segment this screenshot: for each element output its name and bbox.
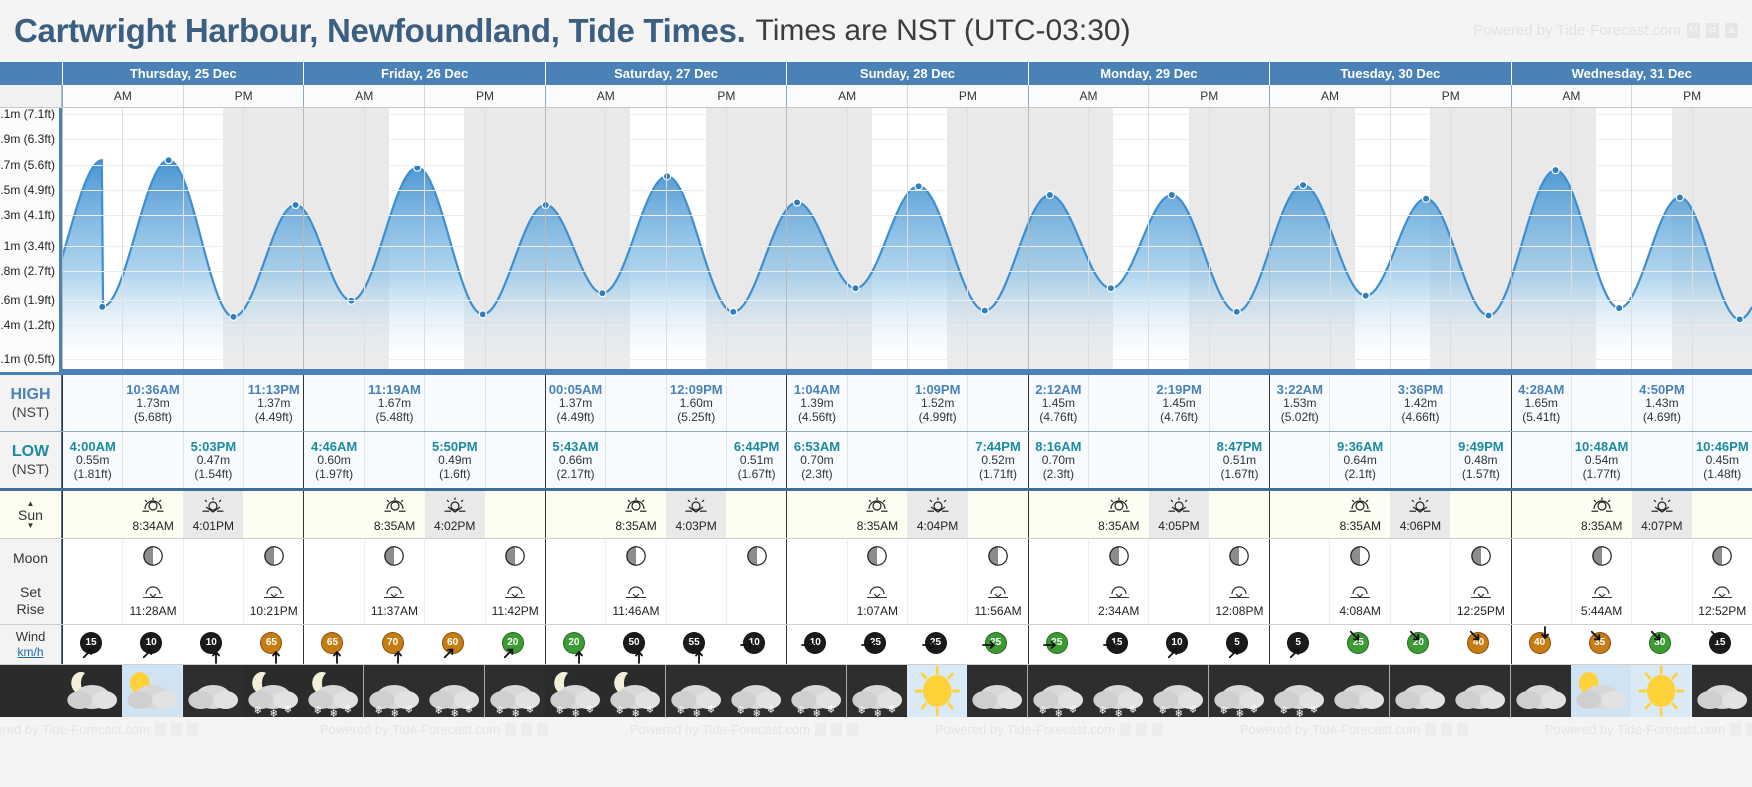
tide-time: 11:19AM: [368, 382, 421, 397]
footer-logo-mark: [187, 723, 198, 736]
wind-badge: 25: [925, 632, 951, 658]
tide-extreme-low-22: [1485, 312, 1492, 319]
weather-icon-snow: ❄❄❄: [485, 665, 545, 717]
sunrise-time: 8:35AM: [1340, 519, 1381, 533]
footer-watermark-1: Powered by Tide-Forecast.com: [320, 722, 548, 737]
svg-text:❄: ❄: [1189, 703, 1197, 716]
moon-setrise-cell: [1390, 577, 1450, 624]
v-gridline-120: [1269, 108, 1270, 369]
tide-cell: [1270, 432, 1329, 488]
tide-cell: [1209, 375, 1269, 431]
tide-height-m: 0.64m: [1343, 454, 1376, 468]
v-gridline-24: [303, 108, 304, 369]
wind-direction-arrow-icon: [572, 650, 586, 667]
low-tide-label-text: LOW: [12, 443, 49, 461]
wind-badge: 50: [623, 632, 649, 658]
wind-cell: 35: [1572, 625, 1632, 664]
v-gridline-30: [364, 108, 365, 369]
wind-direction-arrow-icon: [1288, 646, 1302, 663]
wind-unit-link[interactable]: km/h: [17, 645, 43, 660]
sunset-time: 4:03PM: [675, 519, 716, 533]
tide-height-ft: (5.25ft): [677, 411, 715, 425]
low-tide-label: LOW (NST): [0, 432, 62, 488]
moonrise-time: 4:08AM: [1339, 604, 1380, 618]
tide-cell: [1088, 375, 1148, 431]
tide-time: 1:04AM: [794, 382, 840, 397]
footer-logo-mark: [521, 723, 532, 736]
sun-cell: [1692, 491, 1752, 538]
tide-height-ft: (5.68ft): [134, 411, 172, 425]
wind-direction-arrow-icon: [81, 646, 95, 663]
tide-height-m: 1.45m: [1162, 397, 1195, 411]
wind-badge: 20: [502, 632, 528, 658]
tide-height-ft: (1.67ft): [738, 468, 776, 482]
moonrise-icon: [1106, 583, 1132, 604]
moon-setrise-cell: 2:34AM: [1088, 577, 1148, 624]
moonset-time: 12:52PM: [1698, 604, 1746, 618]
weather-icon-cloudy: [183, 665, 243, 717]
tide-height-m: 0.54m: [1585, 454, 1618, 468]
svg-text:❄: ❄: [405, 703, 413, 716]
sun-cell: 4:02PM: [425, 491, 485, 538]
sun-cell: [63, 491, 123, 538]
tide-height-m: 1.60m: [680, 397, 713, 411]
svg-text:❄: ❄: [1038, 704, 1046, 717]
moon-cell: [304, 539, 363, 577]
footer-logo-mark: [1425, 723, 1436, 736]
moonrise-time: 1:07AM: [857, 604, 898, 618]
tide-height-ft: (1.71ft): [979, 468, 1017, 482]
moon-setrise-cell: [304, 577, 363, 624]
tide-extreme-high-25: [1676, 194, 1683, 201]
tide-height-ft: (4.66ft): [1402, 411, 1440, 425]
tide-height-ft: (2.17ft): [557, 468, 595, 482]
weather-icon-snow: ❄❄❄: [1028, 665, 1088, 717]
sun-cell: 8:35AM: [365, 491, 425, 538]
tide-time: 12:09PM: [670, 382, 723, 397]
wind-badge: 25: [1046, 632, 1072, 658]
moon-cell: [847, 539, 907, 577]
tide-cell: 2:12AM1.45m(4.76ft): [1029, 375, 1088, 431]
sunset-time: 4:06PM: [1400, 519, 1441, 533]
moonrise-time: 2:34AM: [1098, 604, 1139, 618]
wind-badge: 15: [1106, 632, 1132, 658]
moon-cell: [546, 539, 605, 577]
v-gridline-96: [1028, 108, 1029, 369]
sunset-arrow-icon: [27, 522, 35, 530]
tide-time: 4:00AM: [70, 439, 116, 454]
footer-logo-mark: [155, 723, 166, 736]
wind-direction-arrow-icon: [982, 638, 996, 655]
tide-time: 4:46AM: [311, 439, 357, 454]
moon-cell: [1148, 539, 1208, 577]
sun-cell: 8:34AM: [123, 491, 183, 538]
tide-height-ft: (4.49ft): [557, 411, 595, 425]
wind-cell: 60: [425, 625, 485, 664]
footer-watermark-text: Powered by Tide-Forecast.com: [935, 722, 1115, 737]
tide-cell: [1390, 432, 1450, 488]
tide-extreme-low-0: [99, 303, 106, 310]
weather-icon-snow: ❄❄❄: [726, 665, 786, 717]
wind-row: Wind km/h 151010656570602020505510102525…: [0, 625, 1752, 665]
tide-height-ft: (4.99ft): [919, 411, 957, 425]
moon-setrise-cell: [726, 577, 786, 624]
low-tide-day-0: 4:00AM0.55m(1.81ft)5:03PM0.47m(1.54ft): [62, 432, 303, 488]
moonset-icon: [140, 583, 166, 604]
tide-time: 7:44PM: [975, 439, 1021, 454]
tide-height-ft: (5.02ft): [1281, 411, 1319, 425]
high-tide-day-4: 2:12AM1.45m(4.76ft)2:19PM1.45m(4.76ft): [1028, 375, 1269, 431]
day-header-corner: [0, 62, 62, 85]
sunset-icon: [1408, 497, 1432, 518]
svg-text:❄: ❄: [1175, 707, 1183, 717]
wind-label-text: Wind: [16, 629, 46, 645]
wind-cell: 15: [1089, 625, 1149, 664]
tide-cell: 9:49PM0.48m(1.57ft): [1450, 432, 1510, 488]
tide-time: 11:13PM: [248, 382, 300, 397]
sunset-time: 4:07PM: [1641, 519, 1682, 533]
svg-text:❄: ❄: [632, 707, 640, 717]
tide-time: 5:03PM: [191, 439, 237, 454]
tide-time: 10:48AM: [1575, 439, 1628, 454]
v-gridline-6: [122, 108, 123, 369]
moon-phase-icon: [1711, 545, 1733, 572]
tide-height-m: 1.37m: [257, 397, 290, 411]
wind-badge: 25: [1347, 632, 1373, 658]
wind-day-0: 15101065: [62, 625, 303, 664]
tide-cell: [1571, 375, 1631, 431]
footer-watermark-text: Powered by Tide-Forecast.com: [320, 722, 500, 737]
sun-cell: 4:01PM: [183, 491, 243, 538]
weather-icon-snow: ❄❄❄: [364, 665, 424, 717]
tide-cell: 1:04AM1.39m(4.56ft): [787, 375, 846, 431]
wind-direction-arrow-icon: [1538, 626, 1552, 643]
footer-watermark-text: Powered by Tide-Forecast.com: [1545, 722, 1725, 737]
tide-cell: 10:48AM0.54m(1.77ft): [1571, 432, 1631, 488]
footer-logo-mark: [1152, 723, 1163, 736]
moonset-time: 11:46AM: [612, 604, 659, 618]
wind-cell: 50: [606, 625, 666, 664]
sun-cell: [243, 491, 303, 538]
footer-watermark-3: Powered by Tide-Forecast.com: [935, 722, 1163, 737]
footer-logo-mark: [1120, 723, 1131, 736]
moon-setrise-cell: 10:21PM: [243, 577, 303, 624]
low-tide-day-5: 9:36AM0.64m(2.1ft)9:49PM0.48m(1.57ft): [1269, 432, 1510, 488]
tide-cell: 4:00AM0.55m(1.81ft): [63, 432, 122, 488]
moon-setrise-label: Set Rise: [0, 577, 62, 624]
svg-text:❄: ❄: [314, 704, 322, 717]
moon-setrise-cell: [666, 577, 726, 624]
moon-phase-icon: [1349, 545, 1371, 572]
moon-phase-icon: [142, 545, 164, 572]
tide-height-m: 1.65m: [1525, 397, 1558, 411]
moon-cell: [1450, 539, 1510, 577]
svg-text:❄: ❄: [270, 707, 278, 717]
svg-text:❄: ❄: [495, 704, 503, 717]
tide-height-ft: (1.81ft): [74, 468, 112, 482]
v-gridline-72: [786, 108, 787, 369]
tide-cell: [1329, 375, 1389, 431]
moon-phase-icon: [746, 545, 768, 572]
footer-watermark-text: Powered by Tide-Forecast.com: [1240, 722, 1420, 737]
high-tide-row: HIGH (NST) 10:36AM1.73m(5.68ft)11:13PM1.…: [0, 372, 1752, 432]
moon-setrise-cell: [1631, 577, 1691, 624]
svg-text:❄: ❄: [465, 703, 473, 716]
sun-cell: 8:35AM: [606, 491, 666, 538]
sun-label-text: Sun: [18, 508, 43, 522]
weather-icon-snow-night: ❄❄❄: [243, 665, 303, 717]
svg-text:❄: ❄: [525, 703, 533, 716]
tide-cell: [63, 375, 122, 431]
footer-watermark-4: Powered by Tide-Forecast.com: [1240, 722, 1468, 737]
svg-text:❄: ❄: [1235, 707, 1243, 717]
footer-logo-mark: [847, 723, 858, 736]
ampm-group-0: AMPM: [62, 85, 303, 107]
tide-cell: [605, 375, 665, 431]
wind-badge: 65: [260, 632, 286, 658]
weather-icon-snow-night: ❄❄❄: [303, 665, 363, 717]
sun-day-5: 8:35AM4:06PM: [1269, 491, 1510, 538]
moon-day-5: [1269, 539, 1510, 577]
wind-cell: 25: [968, 625, 1028, 664]
wind-day-3: 10252525: [786, 625, 1027, 664]
sunset-icon: [1167, 497, 1191, 518]
sun-cell: [1029, 491, 1089, 538]
svg-text:❄: ❄: [330, 707, 338, 717]
sunrise-time: 8:35AM: [1581, 519, 1622, 533]
moon-day-3: [786, 539, 1027, 577]
tide-height-ft: (1.67ft): [1220, 468, 1258, 482]
tide-cell: 4:46AM0.60m(1.97ft): [304, 432, 363, 488]
v-gridline-108: [1148, 108, 1149, 369]
v-gridline-126: [1330, 108, 1331, 369]
day-header-row: Thursday, 25 DecFriday, 26 DecSaturday, …: [0, 62, 1752, 85]
wind-direction-arrow-icon: [1166, 646, 1180, 663]
footer-logo-mark: [537, 723, 548, 736]
wind-cell: 65: [304, 625, 364, 664]
svg-text:❄: ❄: [390, 707, 398, 717]
high-tide-day-0: 10:36AM1.73m(5.68ft)11:13PM1.37m(4.49ft): [62, 375, 303, 431]
moonset-icon: [381, 583, 407, 604]
moon-setrise-cell: [1512, 577, 1571, 624]
weather-day-1: ❄❄❄❄❄❄❄❄❄❄❄❄: [303, 665, 544, 717]
moonset-icon: [623, 583, 649, 604]
svg-text:❄: ❄: [1099, 704, 1107, 717]
wind-cell: 5: [1209, 625, 1269, 664]
sunset-icon: [1650, 497, 1674, 518]
wind-cell: 15: [1692, 625, 1752, 664]
day-header-5: Tuesday, 30 Dec: [1269, 62, 1510, 85]
sun-row: Sun 8:34AM4:01PM8:35AM4:02PM8:35AM4:03PM…: [0, 491, 1752, 539]
svg-text:❄: ❄: [511, 707, 519, 717]
tide-time: 10:46PM: [1696, 439, 1749, 454]
wind-direction-arrow-icon: [1043, 638, 1057, 655]
footer-logo-mark: [831, 723, 842, 736]
footer-watermark-5: Powered by Tide-Forecast.com: [1545, 722, 1752, 737]
svg-text:❄: ❄: [435, 704, 443, 717]
day-header-1: Friday, 26 Dec: [303, 62, 544, 85]
moon-cell: [605, 539, 665, 577]
tide-height-m: 1.52m: [921, 397, 954, 411]
wind-cell: 25: [907, 625, 967, 664]
day-header-4: Monday, 29 Dec: [1028, 62, 1269, 85]
tide-height-m: 1.37m: [559, 397, 592, 411]
tide-cell: [847, 432, 907, 488]
ampm-am-5: AM: [1270, 85, 1390, 107]
v-gridline-0: [62, 108, 63, 369]
moon-setrise-cell: [1148, 577, 1208, 624]
tide-height-ft: (2.1ft): [1344, 468, 1375, 482]
moon-setrise-cell: [787, 577, 846, 624]
sun-day-0: 8:34AM4:01PM: [62, 491, 303, 538]
moon-setrise-cell: 5:44AM: [1571, 577, 1631, 624]
weather-icon-cloudy: [1329, 665, 1389, 717]
tide-time: 6:44PM: [734, 439, 780, 454]
tide-table: Thursday, 25 DecFriday, 26 DecSaturday, …: [0, 62, 1752, 717]
sunrise-icon: [1590, 497, 1614, 518]
moon-phase-icon: [1108, 545, 1130, 572]
tide-cell: 10:46PM0.45m(1.48ft): [1692, 432, 1752, 488]
moon-day-1: [303, 539, 544, 577]
footer-logo-mark: [171, 723, 182, 736]
weather-icon-snow: ❄❄❄: [1209, 665, 1269, 717]
tide-cell: [243, 432, 303, 488]
sunrise-icon: [624, 497, 648, 518]
svg-text:❄: ❄: [797, 704, 805, 717]
logo-mark-2: ⇄: [1706, 23, 1719, 38]
wind-direction-arrow-icon: [1103, 638, 1117, 655]
wind-day-2: 20505510: [545, 625, 786, 664]
sun-cell: [304, 491, 364, 538]
moon-phase-icon: [263, 545, 285, 572]
low-tide-day-1: 4:46AM0.60m(1.97ft)5:50PM0.49m(1.6ft): [303, 432, 544, 488]
tide-time: 1:09PM: [915, 382, 961, 397]
sun-cell: [1270, 491, 1330, 538]
sunrise-icon: [1348, 497, 1372, 518]
wind-cell: 20: [1390, 625, 1450, 664]
svg-text:❄: ❄: [284, 703, 292, 716]
weather-icon-row: ❄❄❄❄❄❄❄❄❄❄❄❄❄❄❄❄❄❄❄❄❄❄❄❄❄❄❄❄❄❄❄❄❄❄❄❄❄❄❄❄…: [0, 665, 1752, 717]
weather-icon-clear-day: [907, 665, 967, 717]
wind-cell: 5: [1270, 625, 1330, 664]
wind-cell: 10: [787, 625, 847, 664]
svg-text:❄: ❄: [586, 703, 594, 716]
footer-logo-mark: [1457, 723, 1468, 736]
ampm-am-1: AM: [304, 85, 424, 107]
wind-day-4: 2515105: [1028, 625, 1269, 664]
y-tick-0: 2.1m (7.1ft): [0, 107, 55, 121]
sun-cell: [1450, 491, 1510, 538]
sun-cell: 8:35AM: [847, 491, 907, 538]
moonset-icon: [1709, 583, 1735, 604]
high-tide-tz: (NST): [12, 404, 49, 420]
moon-cell: [1029, 539, 1088, 577]
sun-day-2: 8:35AM4:03PM: [545, 491, 786, 538]
sunrise-time: 8:34AM: [132, 519, 173, 533]
svg-text:❄: ❄: [737, 704, 745, 717]
tide-time: 10:36AM: [126, 382, 179, 397]
tide-height-m: 1.53m: [1283, 397, 1316, 411]
moonset-time: 11:56AM: [974, 604, 1021, 618]
sun-cell: [787, 491, 847, 538]
wind-badge: 20: [1407, 632, 1433, 658]
moon-cell: [1512, 539, 1571, 577]
wind-cell: 65: [243, 625, 303, 664]
tide-extreme-low-20: [1362, 292, 1369, 299]
sun-day-4: 8:35AM4:05PM: [1028, 491, 1269, 538]
moonset-time: 12:25PM: [1457, 604, 1505, 618]
tide-height-ft: (1.54ft): [194, 468, 232, 482]
tide-cell: [666, 432, 726, 488]
weather-icon-snow-night: ❄❄❄: [545, 665, 605, 717]
moonrise-icon: [502, 583, 528, 604]
tide-time: 6:53AM: [794, 439, 840, 454]
tide-cell: 2:19PM1.45m(4.76ft): [1148, 375, 1208, 431]
wind-cell: 70: [365, 625, 425, 664]
tide-cell: [424, 375, 484, 431]
ampm-pm-2: PM: [666, 85, 787, 107]
sun-cell: 4:04PM: [907, 491, 967, 538]
svg-text:❄: ❄: [344, 703, 352, 716]
wind-badge: 10: [804, 632, 830, 658]
svg-text:❄: ❄: [1054, 707, 1062, 717]
svg-text:❄: ❄: [767, 703, 775, 716]
wind-badge: 10: [1166, 632, 1192, 658]
tide-cell: 8:16AM0.70m(2.3ft): [1029, 432, 1088, 488]
tide-cell: 10:36AM1.73m(5.68ft): [122, 375, 182, 431]
tide-time: 8:16AM: [1035, 439, 1081, 454]
tide-height-m: 1.42m: [1404, 397, 1437, 411]
footer-watermark-0: Powered by Tide-Forecast.com: [0, 722, 198, 737]
tide-extreme-low-24: [1616, 305, 1623, 312]
tide-height-m: 0.70m: [800, 454, 833, 468]
tide-time: 5:50PM: [432, 439, 478, 454]
logo-mark-1: M: [1687, 23, 1700, 38]
moon-setrise-day-1: 11:37AM11:42PM: [303, 577, 544, 624]
tide-height-ft: (4.76ft): [1039, 411, 1077, 425]
moon-setrise-cell: [1270, 577, 1329, 624]
sun-day-3: 8:35AM4:04PM: [786, 491, 1027, 538]
wind-direction-arrow-icon: [1649, 629, 1663, 646]
moon-label-text: Moon: [13, 550, 48, 566]
tide-time: 4:50PM: [1639, 382, 1685, 397]
moon-setrise-cell: 11:56AM: [967, 577, 1027, 624]
wind-cell: 40: [1450, 625, 1510, 664]
footer-logo-mark: [815, 723, 826, 736]
ampm-pm-3: PM: [907, 85, 1028, 107]
wind-direction-arrow-icon: [1709, 629, 1723, 646]
footer-logo-mark: [1730, 723, 1741, 736]
tide-cell: 7:44PM0.52m(1.71ft): [967, 432, 1027, 488]
svg-text:❄: ❄: [676, 704, 684, 717]
svg-text:❄: ❄: [706, 703, 714, 716]
v-gridline-54: [605, 108, 606, 369]
tide-cell: [1631, 432, 1691, 488]
moon-cell: [183, 539, 243, 577]
tide-height-m: 0.48m: [1464, 454, 1497, 468]
weather-day-5: ❄❄❄: [1269, 665, 1510, 717]
moon-setrise-cell: 12:25PM: [1450, 577, 1510, 624]
weather-icon-snow: ❄❄❄: [1088, 665, 1148, 717]
moon-setrise-day-2: 11:46AM: [545, 577, 786, 624]
tide-height-m: 0.49m: [438, 454, 471, 468]
sun-cell: 4:03PM: [666, 491, 726, 538]
ampm-pm-4: PM: [1148, 85, 1269, 107]
moon-cell: [63, 539, 122, 577]
v-gridline-18: [243, 108, 244, 369]
v-gridline-132: [1390, 108, 1391, 369]
y-tick-1: 1.9m (6.3ft): [0, 132, 55, 146]
